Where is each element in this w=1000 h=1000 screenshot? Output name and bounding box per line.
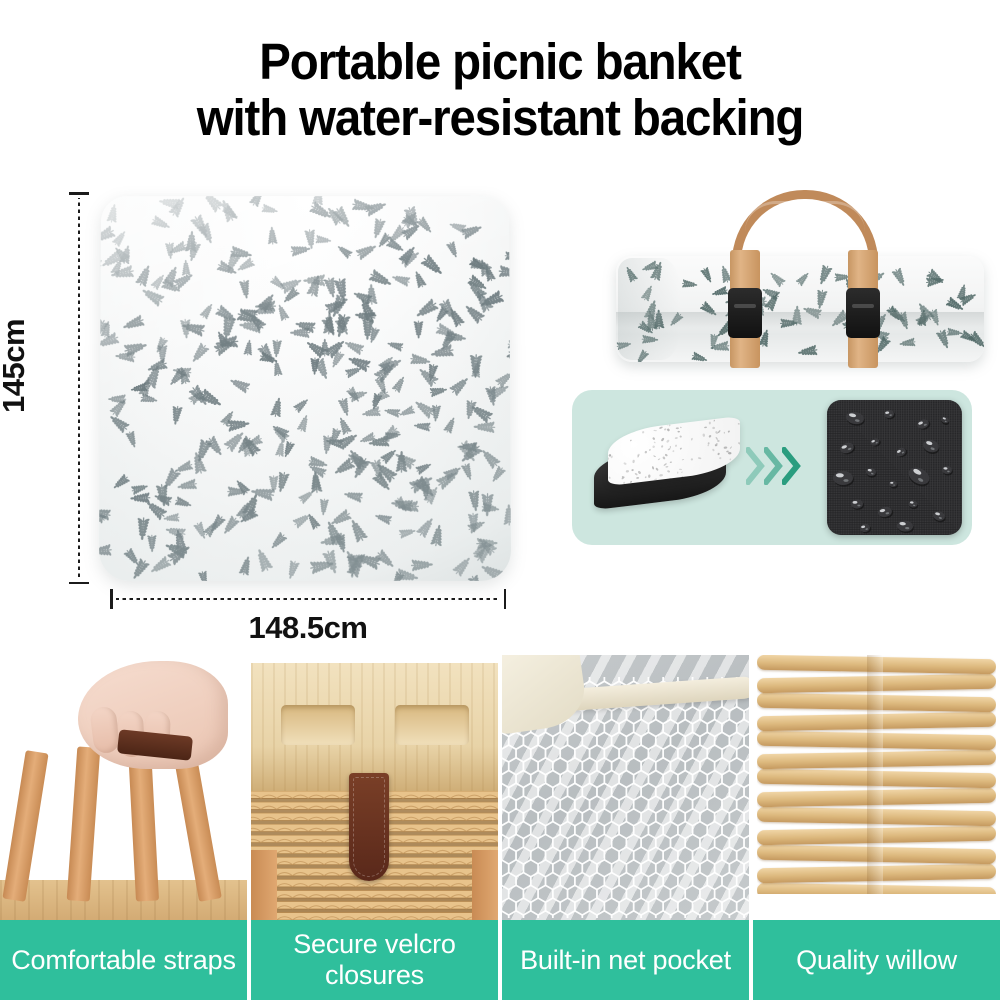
feature-caption-net-pocket: Built-in net pocket	[502, 920, 749, 1000]
feature-caption-straps: Comfortable straps	[0, 920, 247, 1000]
feature-photo-velcro	[251, 655, 498, 920]
feature-caption-willow: Quality willow	[753, 920, 1000, 1000]
flat-blanket-image	[100, 195, 510, 580]
velcro-leather-tab	[349, 773, 389, 881]
feature-cell-willow: Quality willow	[753, 655, 1000, 1000]
roll-end-highlight	[618, 258, 680, 360]
feature-grid: Comfortable straps Secure velcro closure…	[0, 655, 1000, 1000]
feature-photo-willow	[753, 655, 1000, 920]
width-dimension-cap-right	[504, 589, 507, 609]
feature-cell-net-pocket: Built-in net pocket	[502, 655, 749, 1000]
rolled-blanket-image	[610, 190, 990, 370]
hero-section: 145cm 148.5cm	[0, 170, 1000, 650]
height-dimension-line	[78, 192, 80, 584]
chevron-right-icon-1	[746, 447, 766, 485]
buckle-left	[728, 288, 762, 338]
feature-cell-velcro: Secure velcro closures	[251, 655, 498, 1000]
side-strap-left	[251, 850, 277, 920]
feature-caption-velcro: Secure velcro closures	[251, 920, 498, 1000]
leaf-pattern-texture	[99, 196, 511, 581]
width-dimension-cap-left	[110, 589, 113, 609]
height-dimension-cap-bottom	[69, 582, 89, 585]
water-droplets	[827, 400, 962, 535]
lid-handle-notch-left	[281, 705, 355, 745]
rolled-blanket-body	[616, 256, 984, 362]
width-dimension-dashes	[116, 598, 500, 600]
height-dimension-cap-top	[69, 192, 89, 195]
chevron-right-icon-3	[782, 447, 802, 485]
height-dimension-label: 145cm	[0, 319, 32, 413]
page-title: Portable picnic banket with water-resist…	[0, 34, 1000, 146]
title-line-1: Portable picnic banket	[35, 34, 965, 90]
feature-photo-net-pocket	[502, 655, 749, 920]
basket-corner-edge	[867, 655, 883, 894]
fabric-layers-diagram	[594, 422, 744, 514]
width-dimension-line: 148.5cm	[110, 598, 506, 600]
water-resistant-panel	[572, 390, 972, 545]
height-dimension-dashes	[78, 198, 80, 578]
chevron-right-icon-2	[764, 447, 784, 485]
flat-blanket-body	[99, 196, 511, 581]
waterproof-fabric-swatch	[827, 400, 962, 535]
lid-handle-notch-right	[395, 705, 469, 745]
side-strap-right	[472, 850, 498, 920]
feature-cell-straps: Comfortable straps	[0, 655, 247, 1000]
chevron-arrows	[746, 447, 806, 487]
width-dimension-label: 148.5cm	[249, 610, 368, 646]
buckle-right	[846, 288, 880, 338]
willow-basket-corner	[757, 655, 996, 894]
infographic-page: Portable picnic banket with water-resist…	[0, 0, 1000, 1000]
title-line-2: with water-resistant backing	[35, 90, 965, 146]
feature-photo-straps	[0, 655, 247, 920]
